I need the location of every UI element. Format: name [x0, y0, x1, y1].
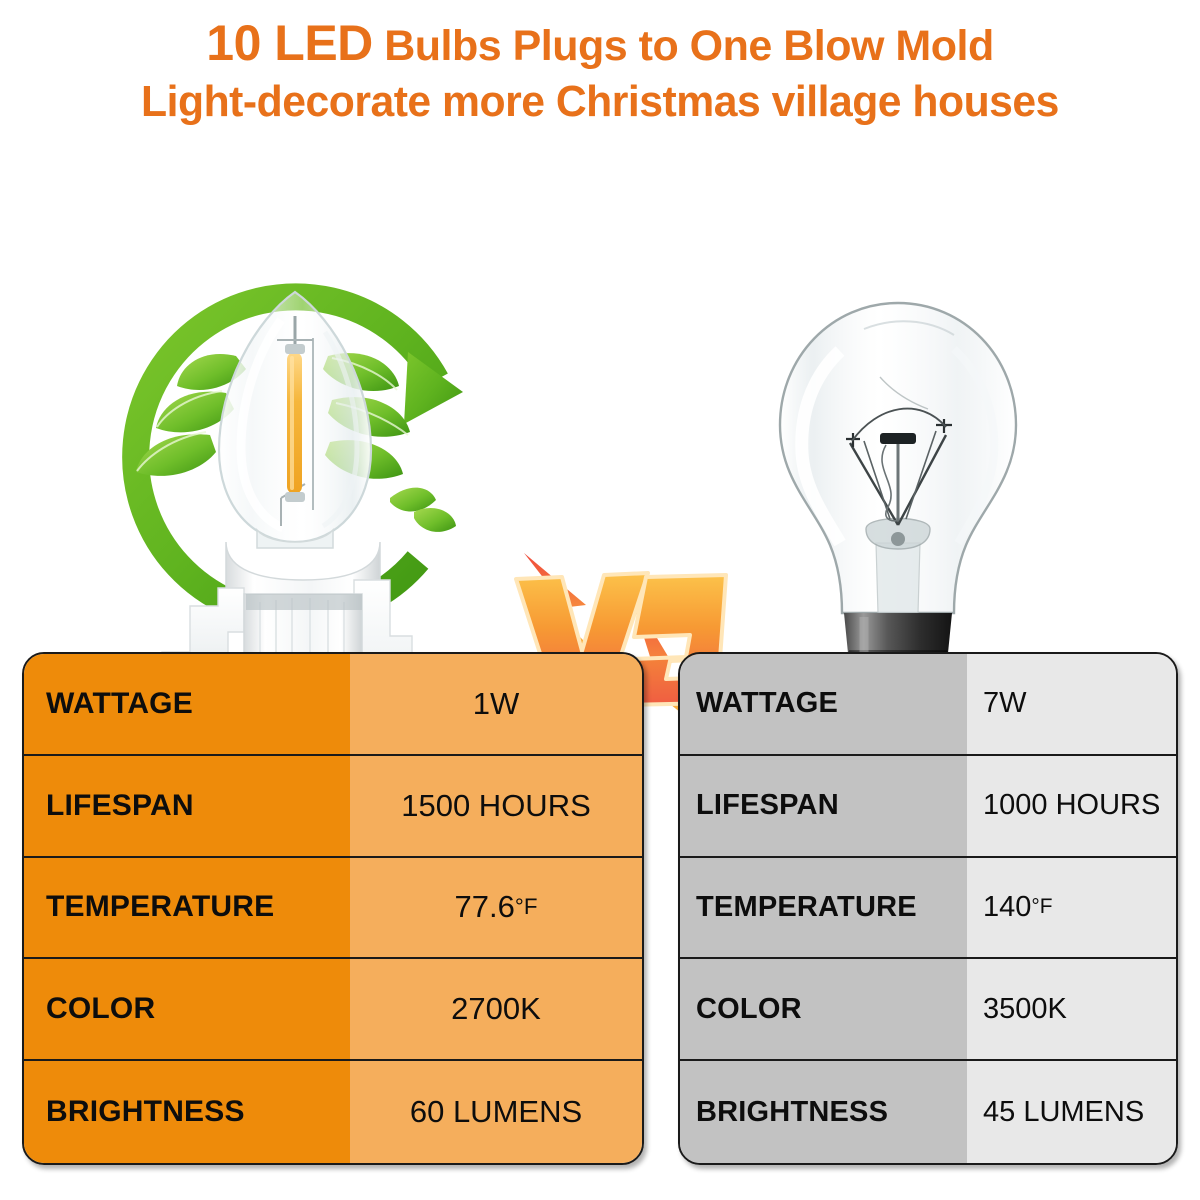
page-headline: 10 LED Bulbs Plugs to One Blow Mold Ligh…: [0, 18, 1200, 124]
headline-line-1-rest: Bulbs Plugs to One Blow Mold: [373, 22, 994, 70]
spec-value: 2700K: [350, 959, 642, 1059]
headline-line-1: 10 LED Bulbs Plugs to One Blow Mold: [0, 18, 1200, 68]
spec-value: 140°F: [967, 858, 1176, 958]
spec-label: WATTAGE: [24, 654, 350, 754]
spec-value: 1500 HOURS: [350, 756, 642, 856]
incandescent-spec-table: WATTAGE 7W LIFESPAN 1000 HOURS TEMPERATU…: [678, 652, 1178, 1165]
spec-value-unit: °F: [515, 894, 538, 920]
table-row: TEMPERATURE 140°F: [680, 858, 1176, 960]
spec-label: BRIGHTNESS: [680, 1061, 967, 1163]
table-row: COLOR 2700K: [24, 959, 642, 1061]
table-row: BRIGHTNESS 45 LUMENS: [680, 1061, 1176, 1163]
spec-value: 77.6°F: [350, 858, 642, 958]
table-row: LIFESPAN 1000 HOURS: [680, 756, 1176, 858]
table-row: WATTAGE 1W: [24, 654, 642, 756]
spec-value-unit: °F: [1031, 895, 1052, 919]
spec-value: 1W: [350, 654, 642, 754]
spec-label: LIFESPAN: [680, 756, 967, 856]
spec-label: COLOR: [680, 959, 967, 1059]
spec-label: TEMPERATURE: [680, 858, 967, 958]
table-row: LIFESPAN 1500 HOURS: [24, 756, 642, 858]
spec-label: COLOR: [24, 959, 350, 1059]
spec-value: 60 LUMENS: [350, 1061, 642, 1163]
headline-emphasis: 10 LED: [206, 15, 373, 71]
spec-value: 1000 HOURS: [967, 756, 1176, 856]
spec-value-number: 77.6: [455, 889, 515, 925]
spec-value: 7W: [967, 654, 1176, 754]
spec-label: LIFESPAN: [24, 756, 350, 856]
spec-value: 45 LUMENS: [967, 1061, 1176, 1163]
product-comparison-imagery: [0, 125, 1200, 645]
led-filament-bulb-icon: [185, 280, 405, 580]
table-row: BRIGHTNESS 60 LUMENS: [24, 1061, 642, 1163]
spec-value: 3500K: [967, 959, 1176, 1059]
spec-label: TEMPERATURE: [24, 858, 350, 958]
headline-line-2: Light-decorate more Christmas village ho…: [18, 80, 1182, 124]
table-row: COLOR 3500K: [680, 959, 1176, 1061]
spec-value-number: 140: [983, 891, 1031, 924]
table-row: WATTAGE 7W: [680, 654, 1176, 756]
spec-label: BRIGHTNESS: [24, 1061, 350, 1163]
table-row: TEMPERATURE 77.6°F: [24, 858, 642, 960]
led-spec-table: WATTAGE 1W LIFESPAN 1500 HOURS TEMPERATU…: [22, 652, 644, 1165]
spec-label: WATTAGE: [680, 654, 967, 754]
